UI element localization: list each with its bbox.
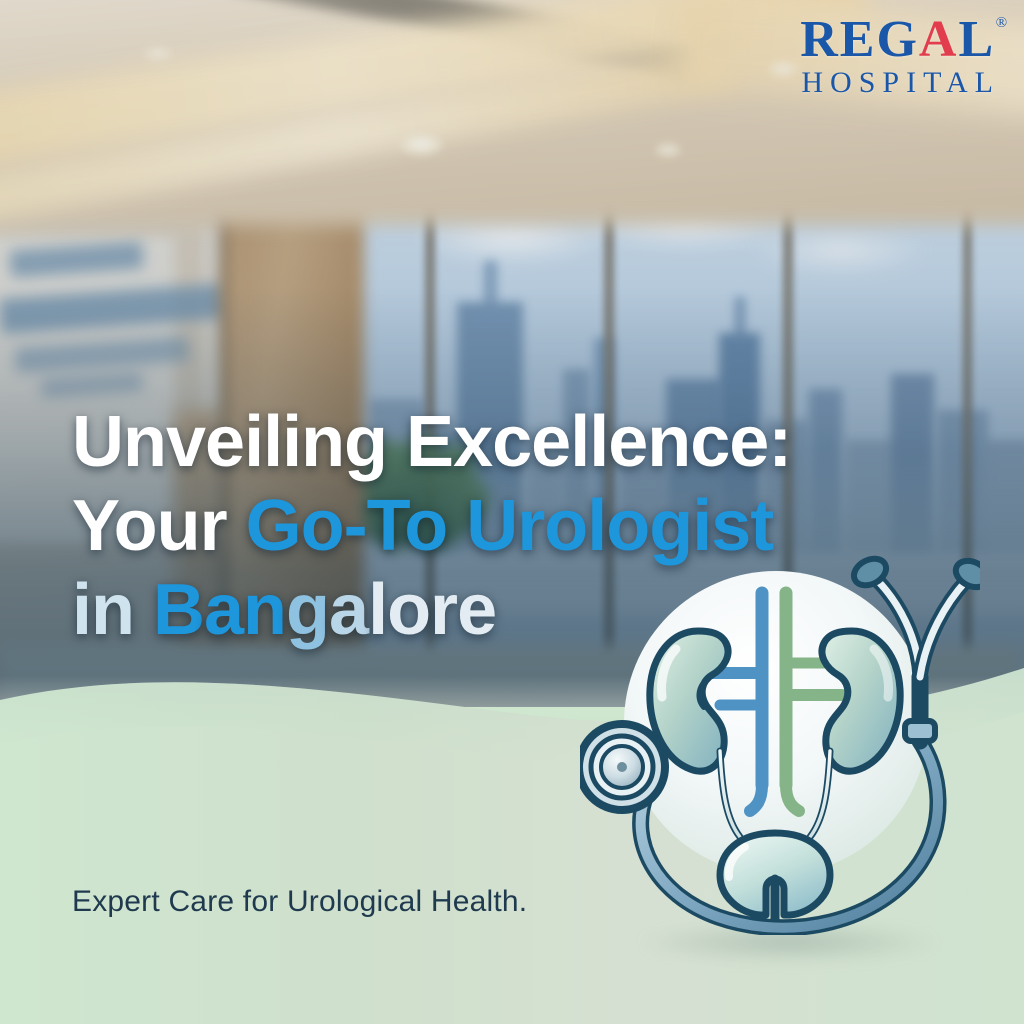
headline-line-3-b: B bbox=[153, 570, 204, 650]
brand-logo[interactable]: REGAL ® HOSPITAL bbox=[795, 14, 1000, 98]
headline-line-2-plain: Your bbox=[72, 486, 246, 566]
logo-regal-suffix: L bbox=[958, 11, 995, 68]
stethoscope-chestpiece bbox=[580, 724, 665, 810]
promo-poster: REGAL ® HOSPITAL Unveiling Excellence: Y… bbox=[0, 0, 1024, 1024]
logo-regal-accent-letter: A bbox=[919, 11, 959, 68]
headline-line-1-text: Unveiling Excellence: bbox=[72, 402, 791, 482]
urinary-system-illustration bbox=[580, 545, 980, 935]
headline-line-3-g: g bbox=[286, 570, 329, 650]
tagline: Expert Care for Urological Health. bbox=[72, 885, 527, 919]
headline-line-3-an: an bbox=[204, 570, 286, 650]
stethoscope-collar bbox=[905, 721, 935, 741]
registered-trademark-icon: ® bbox=[996, 16, 1009, 31]
chestpiece-center bbox=[617, 762, 627, 772]
headline-line-3-prefix: in bbox=[72, 570, 153, 650]
logo-regal-prefix: REG bbox=[800, 11, 919, 68]
headline-line-3-a: a bbox=[329, 570, 368, 650]
logo-wordmark-regal: REGAL ® bbox=[800, 14, 995, 66]
headline-line-3-lore: lore bbox=[368, 570, 496, 650]
logo-wordmark-hospital: HOSPITAL bbox=[795, 68, 1000, 98]
headline-line-1: Unveiling Excellence: bbox=[72, 400, 892, 484]
